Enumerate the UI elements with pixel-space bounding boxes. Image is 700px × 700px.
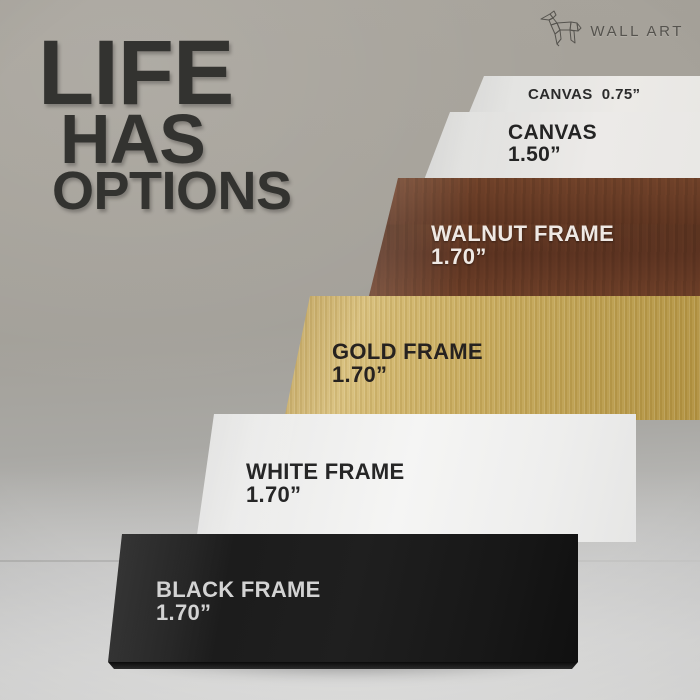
page-title: LIFE HAS OPTIONS [38, 34, 378, 215]
option-label-gold-frame: GOLD FRAME 1.70” [332, 340, 483, 387]
option-label-white-frame: WHITE FRAME 1.70” [246, 460, 405, 507]
option-label-canvas-150: CANVAS 1.50” [508, 122, 597, 167]
brand-logo: WALL ART [537, 10, 684, 53]
option-slab-gold-frame[interactable]: GOLD FRAME 1.70” [284, 296, 700, 420]
option-slab-canvas-150[interactable]: CANVAS 1.50” [424, 112, 700, 180]
option-slab-walnut-frame[interactable]: WALNUT FRAME 1.70” [368, 178, 700, 300]
option-slab-black-frame[interactable]: BLACK FRAME 1.70” [108, 534, 578, 662]
origami-goat-icon [537, 10, 583, 53]
option-slab-white-frame[interactable]: WHITE FRAME 1.70” [196, 414, 636, 542]
brand-name: WALL ART [590, 23, 684, 40]
headline-line-3: OPTIONS [52, 168, 378, 214]
option-label-canvas-075: CANVAS 0.75” [528, 87, 640, 103]
option-label-black-frame: BLACK FRAME 1.70” [156, 578, 321, 625]
option-label-walnut-frame: WALNUT FRAME 1.70” [431, 222, 614, 269]
product-options-poster: LIFE HAS OPTIONS WALL ART CANVAS 0.75” [0, 0, 700, 700]
slab-bottom-edge-black [108, 662, 578, 669]
